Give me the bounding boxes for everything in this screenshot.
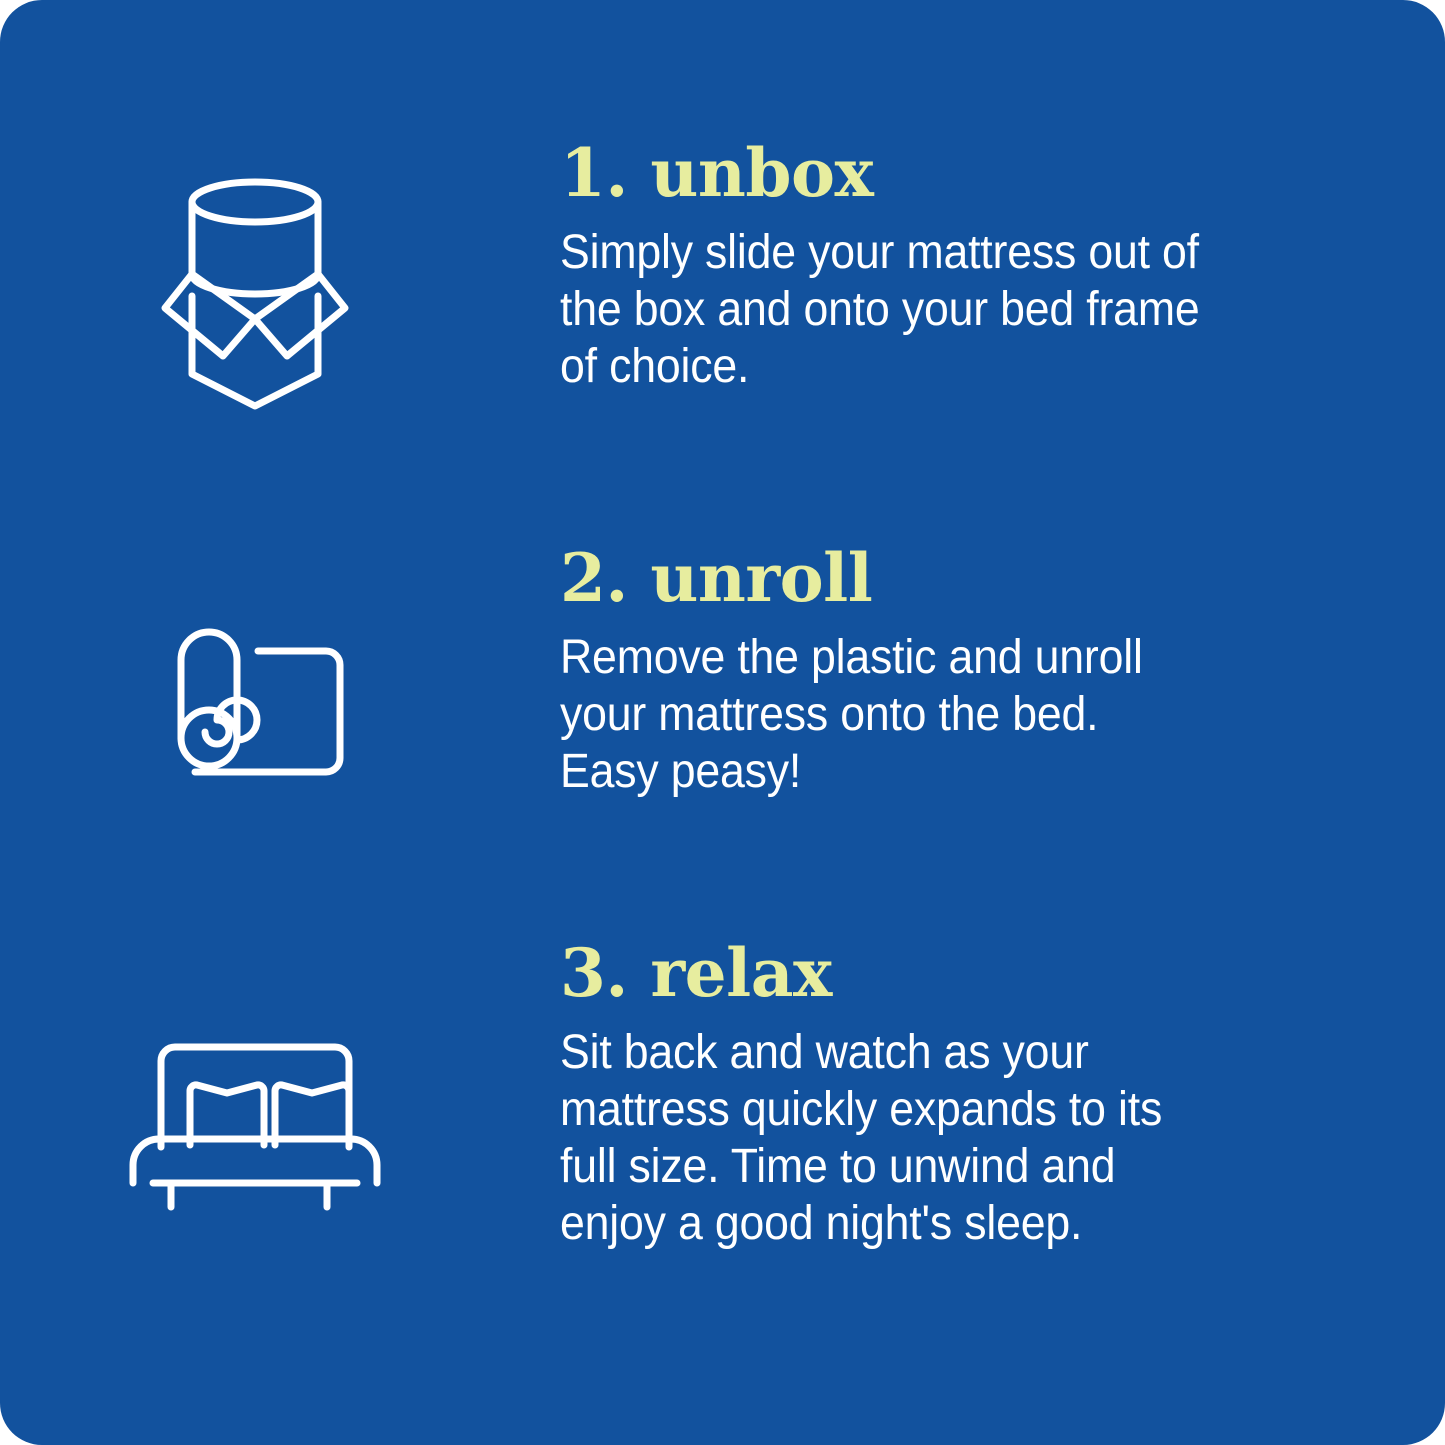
body-line: of choice. [560, 338, 1295, 395]
rolled-mattress-unrolling-icon [120, 615, 390, 795]
body-line: mattress quickly expands to its [560, 1081, 1295, 1138]
step-text-unroll: 2. unroll Remove the plastic and unroll … [560, 545, 1350, 800]
step-body-unbox: Simply slide your mattress out of the bo… [560, 206, 1295, 395]
bed-with-pillows-icon [120, 1025, 390, 1225]
body-line: your mattress onto the bed. [560, 686, 1295, 743]
step-title-relax: 3. relax [560, 940, 1350, 1006]
step-text-relax: 3. relax Sit back and watch as your matt… [560, 940, 1350, 1252]
body-line: enjoy a good night's sleep. [560, 1195, 1295, 1252]
instructions-card: 1. unbox Simply slide your mattress out … [0, 0, 1445, 1445]
body-line: full size. Time to unwind and [560, 1138, 1295, 1195]
body-line: Remove the plastic and unroll [560, 629, 1295, 686]
body-line: Sit back and watch as your [560, 1024, 1295, 1081]
mattress-in-open-box-icon [120, 178, 390, 408]
step-title-unroll: 2. unroll [560, 545, 1350, 611]
step-title-unbox: 1. unbox [560, 140, 1350, 206]
steps-list: 1. unbox Simply slide your mattress out … [0, 0, 1445, 1445]
body-line: Easy peasy! [560, 743, 1295, 800]
step-body-relax: Sit back and watch as your mattress quic… [560, 1006, 1295, 1252]
step-text-unbox: 1. unbox Simply slide your mattress out … [560, 140, 1350, 395]
body-line: the box and onto your bed frame [560, 281, 1295, 338]
body-line: Simply slide your mattress out of [560, 224, 1295, 281]
step-body-unroll: Remove the plastic and unroll your mattr… [560, 611, 1295, 800]
